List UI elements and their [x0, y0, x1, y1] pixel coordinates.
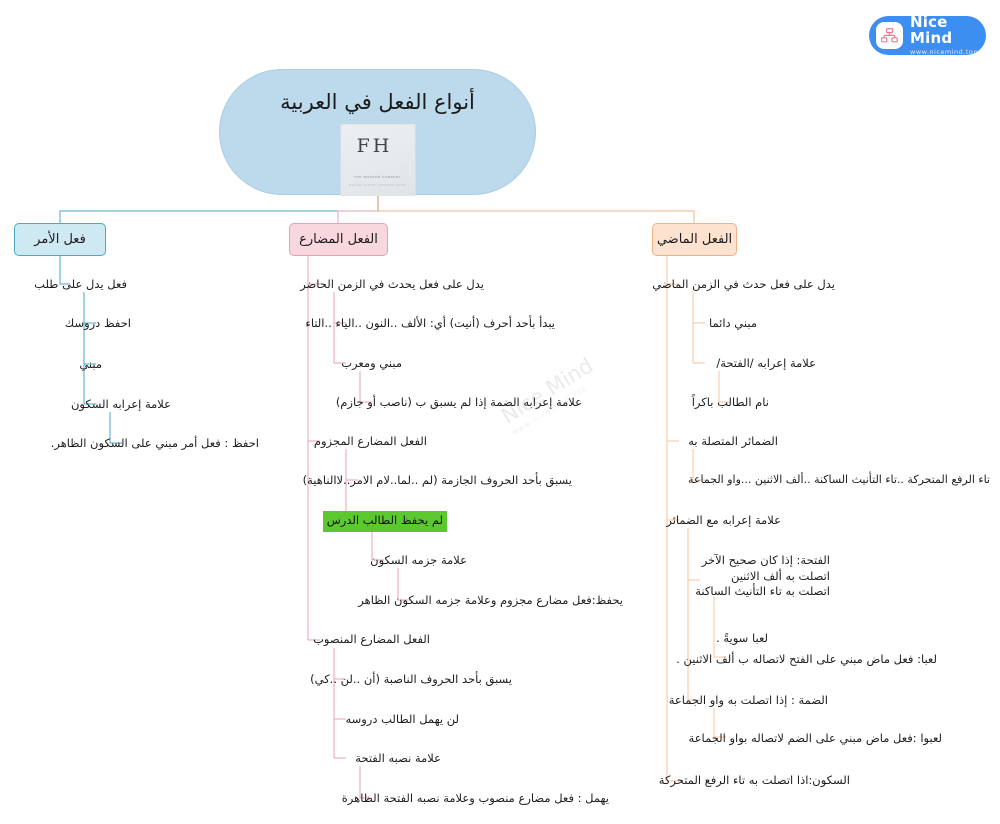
watermark-text: Nice Mind — [497, 353, 597, 428]
node-mud-5[interactable]: الفعل المضارع المجزوم — [314, 434, 427, 450]
node-mud-6[interactable]: يسبق بأحد الحروف الجازمة (لم ..لما..لام … — [303, 473, 572, 489]
node-mud-1[interactable]: يدل على فعل يحدث في الزمن الحاضر — [300, 277, 484, 293]
node-mud-4[interactable]: علامة إعرابه الضمة إذا لم يسبق ب (ناصب أ… — [336, 395, 582, 411]
mindmap-icon — [876, 22, 903, 49]
node-mud-14[interactable]: يهمل : فعل مضارع منصوب وعلامة نصبه الفتح… — [342, 791, 609, 807]
node-mud-8[interactable]: علامة جزمه السكون — [370, 553, 467, 569]
monogram-letter-f: F — [357, 135, 373, 157]
node-mud-7-highlighted[interactable]: لم يحفظ الطالب الدرس — [323, 511, 447, 532]
node-madi-12[interactable]: لعبوا :فعل ماض مبني على الضم لاتصاله بوا… — [689, 731, 942, 747]
node-amr-3[interactable]: مبني — [79, 357, 102, 373]
branch-node-madi[interactable]: الفعل الماضي — [652, 223, 737, 256]
node-mud-9[interactable]: يحفظ:فعل مضارع مجزوم وعلامة جزمه السكون … — [358, 593, 623, 609]
nicemind-brand-badge[interactable]: Nice Mind www.nicemind.top — [869, 16, 986, 55]
branch-node-amr[interactable]: فعل الأمر — [14, 223, 106, 256]
brand-name: Nice Mind — [910, 15, 986, 47]
node-mud-13[interactable]: علامة نصبه الفتحة — [355, 751, 441, 767]
node-mud-2[interactable]: يبدأ بأحد أحرف (أنيت) أي: الألف ..النون … — [305, 316, 555, 332]
node-madi-8[interactable]: الفتحة: إذا كان صحيح الآخر اتصلت به ألف … — [695, 553, 830, 600]
mindmap-canvas: أنواع الفعل في العربية FH THE MODERN COM… — [0, 0, 1000, 824]
node-madi-13[interactable]: السكون:اذا اتصلت به تاء الرفع المتحركة — [659, 773, 850, 789]
branch-node-mudari[interactable]: الفعل المضارع — [289, 223, 388, 256]
root-monogram-image: FH THE MODERN COMPANY ESTABLISHED LONDON… — [340, 124, 415, 196]
node-amr-5[interactable]: احفظ : فعل أمر مبني على السكون الظاهر. — [51, 436, 259, 452]
node-madi-7[interactable]: علامة إعرابه مع الضمائر — [666, 513, 781, 529]
node-madi-2[interactable]: مبني دائما — [709, 316, 757, 332]
node-madi-10[interactable]: لعبا: فعل ماض مبني على الفتح لاتصاله ب أ… — [676, 652, 937, 668]
monogram-letters: FH — [341, 137, 414, 155]
monogram-caption-1: THE MODERN COMPANY — [349, 175, 406, 179]
node-madi-11[interactable]: الضمة : إذا اتصلت به واو الجماعة — [669, 693, 828, 709]
node-madi-6[interactable]: تاء الرفع المتحركة ..تاء التأنيث الساكنة… — [688, 473, 990, 488]
monogram-letter-h: H — [373, 135, 393, 157]
node-madi-5[interactable]: الضمائر المتصلة به — [688, 434, 778, 450]
root-title: أنواع الفعل في العربية — [220, 90, 535, 114]
node-mud-10[interactable]: الفعل المضارع المنصوب — [313, 632, 430, 648]
node-madi-3[interactable]: علامة إعرابه /الفتحة/ — [716, 356, 816, 372]
node-amr-4[interactable]: علامة إعرابه السكون — [71, 397, 171, 413]
node-amr-2[interactable]: احفظ دروسك — [65, 316, 131, 332]
monogram-caption-2: ESTABLISHED LONDON 2020 — [349, 183, 406, 188]
brand-url: www.nicemind.top — [910, 49, 986, 56]
node-mud-3[interactable]: مبني ومعرب — [341, 356, 402, 372]
node-madi-1[interactable]: يدل على فعل حدث في الزمن الماضي — [652, 277, 835, 293]
node-mud-12[interactable]: لن يهمل الطالب دروسه — [345, 712, 459, 728]
node-madi-4[interactable]: نام الطالب باكراً — [692, 395, 769, 411]
root-node[interactable]: أنواع الفعل في العربية FH THE MODERN COM… — [219, 69, 536, 195]
node-amr-1[interactable]: فعل يدل على طلب — [34, 277, 127, 293]
brand-text: Nice Mind www.nicemind.top — [910, 15, 986, 55]
node-mud-11[interactable]: يسبق بأحد الحروف الناصبة (أن ..لن ..كي) — [310, 672, 512, 688]
node-madi-9[interactable]: لعبا سويةً . — [716, 631, 768, 647]
